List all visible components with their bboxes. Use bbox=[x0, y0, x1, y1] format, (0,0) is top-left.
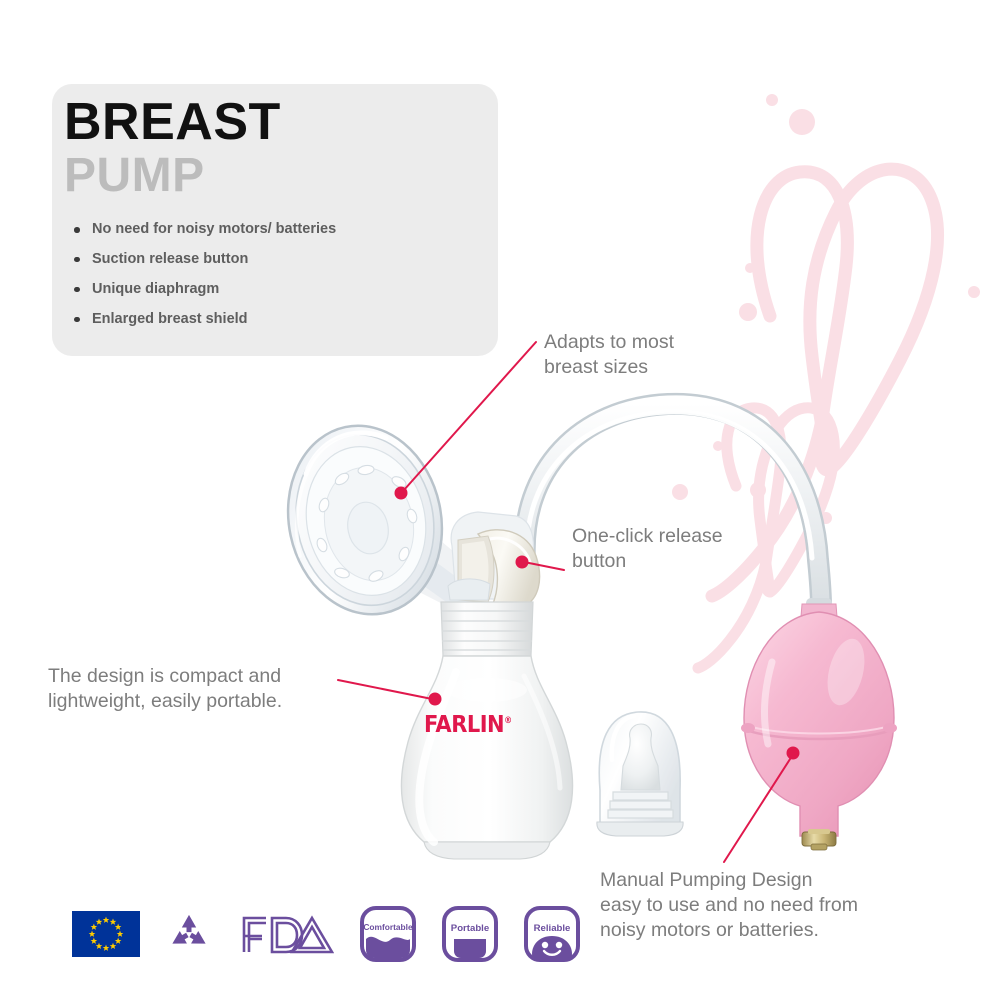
reliable-badge: Reliable bbox=[524, 906, 580, 962]
infographic-canvas: BREAST PUMP No need for noisy motors/ ba… bbox=[0, 0, 1000, 1000]
comfortable-badge: Comfortable bbox=[360, 906, 416, 962]
product-illustration bbox=[0, 0, 1000, 1000]
registered-trademark-icon: ® bbox=[504, 715, 512, 725]
recycling-symbol-icon bbox=[166, 911, 212, 957]
ce-eu-flag-icon bbox=[72, 911, 140, 957]
portable-badge-label: Portable bbox=[451, 923, 489, 934]
certification-badge-row: Comfortable Portable Reliable bbox=[72, 906, 580, 962]
callout-adapts-to-most-breast-sizes: Adapts to most breast sizes bbox=[544, 330, 674, 380]
pump-head-assembly bbox=[448, 512, 540, 606]
brand-text: FARLIN bbox=[424, 711, 504, 738]
farlin-brand-logo: FARLIN® bbox=[424, 711, 512, 738]
pump-bulb bbox=[741, 604, 897, 850]
fda-logo-icon bbox=[238, 910, 334, 958]
portable-badge: Portable bbox=[442, 906, 498, 962]
nipple-cap bbox=[597, 712, 683, 836]
silicone-tube bbox=[493, 404, 832, 634]
callout-manual-pumping-design: Manual Pumping Design easy to use and no… bbox=[600, 868, 930, 943]
reliable-badge-label: Reliable bbox=[534, 923, 571, 934]
callout-one-click-release-button: One-click release button bbox=[572, 524, 723, 574]
comfortable-badge-label: Comfortable bbox=[363, 922, 413, 932]
brass-valve bbox=[802, 829, 836, 850]
callout-compact-lightweight: The design is compact and lightweight, e… bbox=[48, 664, 378, 714]
